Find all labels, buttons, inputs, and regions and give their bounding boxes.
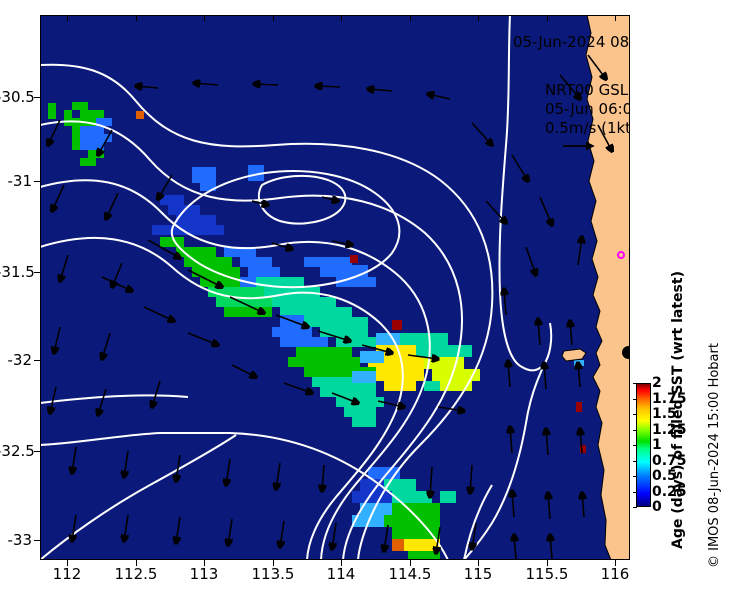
ytick-label: -33: [0, 531, 32, 549]
xtick-label: 113.5: [243, 565, 303, 583]
xtick-inner: [67, 15, 68, 21]
colorbar-tick-label: 1: [652, 437, 662, 453]
colorbar-tick: [633, 430, 637, 431]
colorbar[interactable]: 2 1.75 1.5 1.25 1 0.75 0.5 0.25 0: [636, 383, 651, 507]
colorbar-tick: [633, 383, 637, 384]
colorbar-tick: [633, 507, 637, 508]
xtick-label: 113: [174, 565, 234, 583]
ytick-mark: [34, 272, 40, 273]
xtick-label: 114: [311, 565, 371, 583]
colorbar-gradient: [636, 383, 651, 507]
copyright-credit: © IMOS 08-Jun-2024 15:00 Hobart: [707, 343, 722, 568]
argo-float-marker[interactable]: [617, 251, 625, 259]
ytick-mark: [34, 181, 40, 182]
map-plot-area[interactable]: 05-Jun-2024 08Z 200m 1000m NRT00 GSL 05-…: [40, 15, 630, 560]
colorbar-tick: [633, 445, 637, 446]
ytick-mark: [34, 360, 40, 361]
ytick-label: -32: [0, 351, 32, 369]
xtick-inner: [547, 15, 548, 21]
xtick-label: 115.5: [517, 565, 577, 583]
ytick-label: -31.5: [0, 263, 32, 281]
colorbar-tick-label: 0: [652, 499, 662, 515]
current-scale-arrow-icon: [561, 139, 605, 153]
colorbar-tick-label: 2: [652, 375, 662, 391]
ytick-label: -32.5: [0, 442, 32, 460]
xtick-inner: [410, 15, 411, 21]
sst-age-map-figure: 05-Jun-2024 08Z 200m 1000m NRT00 GSL 05-…: [0, 0, 740, 592]
colorbar-axis-title: Age (days) of filled SST (wrt latest): [670, 271, 686, 549]
ytick-label: -31: [0, 172, 32, 190]
ytick-mark: [34, 97, 40, 98]
current-product-label: NRT00 GSL: [545, 81, 628, 99]
xtick-inner: [204, 15, 205, 21]
xtick-inner: [136, 15, 137, 21]
xtick-label: 112: [37, 565, 97, 583]
timestamp-label: 05-Jun-2024 08Z: [513, 33, 630, 51]
colorbar-tick: [633, 414, 637, 415]
current-scale-label: 0.5m/s (1kt 6h): [545, 119, 630, 137]
xtick-inner: [273, 15, 274, 21]
xtick-label: 112.5: [106, 565, 166, 583]
colorbar-tick: [633, 476, 637, 477]
surface-current-vectors: [40, 15, 630, 560]
xtick-label: 114.5: [380, 565, 440, 583]
xtick-inner: [615, 15, 616, 21]
colorbar-tick: [633, 461, 637, 462]
perth-city-marker[interactable]: [622, 346, 630, 359]
xtick-inner: [478, 15, 479, 21]
ytick-label: -30.5: [0, 88, 32, 106]
colorbar-tick: [633, 399, 637, 400]
xtick-inner: [341, 15, 342, 21]
xtick-label: 115: [448, 565, 508, 583]
ytick-mark: [34, 540, 40, 541]
current-time-label: 05-Jun 06:00Z: [545, 100, 630, 118]
xtick-label: 116: [585, 565, 645, 583]
ytick-mark: [34, 451, 40, 452]
colorbar-tick: [633, 492, 637, 493]
